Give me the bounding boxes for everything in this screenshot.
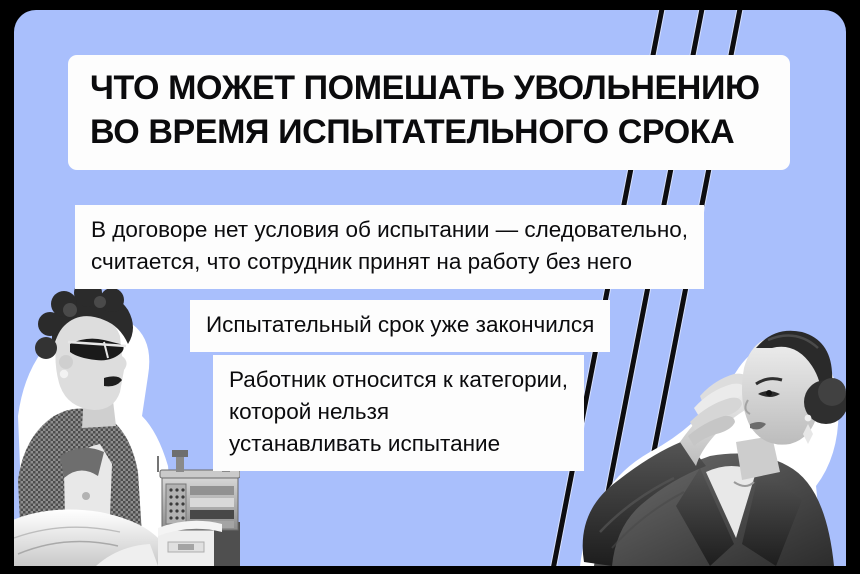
point-protected-category: Работник относится к категории, которой … [213, 355, 584, 471]
bottom-frame-bar [0, 566, 860, 574]
point-no-probation-clause: В договоре нет условия об испытании — сл… [75, 205, 704, 289]
poster-canvas: ЧТО МОЖЕТ ПОМЕШАТЬ УВОЛЬНЕНИЮ ВО ВРЕМЯ И… [0, 0, 860, 574]
poster-card: ЧТО МОЖЕТ ПОМЕШАТЬ УВОЛЬНЕНИЮ ВО ВРЕМЯ И… [14, 10, 846, 566]
point-3-line-3: устанавливать испытание [229, 428, 568, 460]
point-probation-ended: Испытательный срок уже закончился [190, 300, 610, 352]
point-1-line-2: считается, что сотрудник принят на работ… [91, 246, 688, 278]
poster-title-box: ЧТО МОЖЕТ ПОМЕШАТЬ УВОЛЬНЕНИЮ ВО ВРЕМЯ И… [68, 55, 790, 170]
point-2-line-1: Испытательный срок уже закончился [206, 309, 594, 341]
point-3-line-1: Работник относится к категории, [229, 364, 568, 396]
poster-title-line-2: ВО ВРЕМЯ ИСПЫТАТЕЛЬНОГО СРОКА [90, 111, 768, 155]
point-3-line-2: которой нельзя [229, 396, 568, 428]
poster-title-line-1: ЧТО МОЖЕТ ПОМЕШАТЬ УВОЛЬНЕНИЮ [90, 67, 768, 111]
point-1-line-1: В договоре нет условия об испытании — сл… [91, 214, 688, 246]
